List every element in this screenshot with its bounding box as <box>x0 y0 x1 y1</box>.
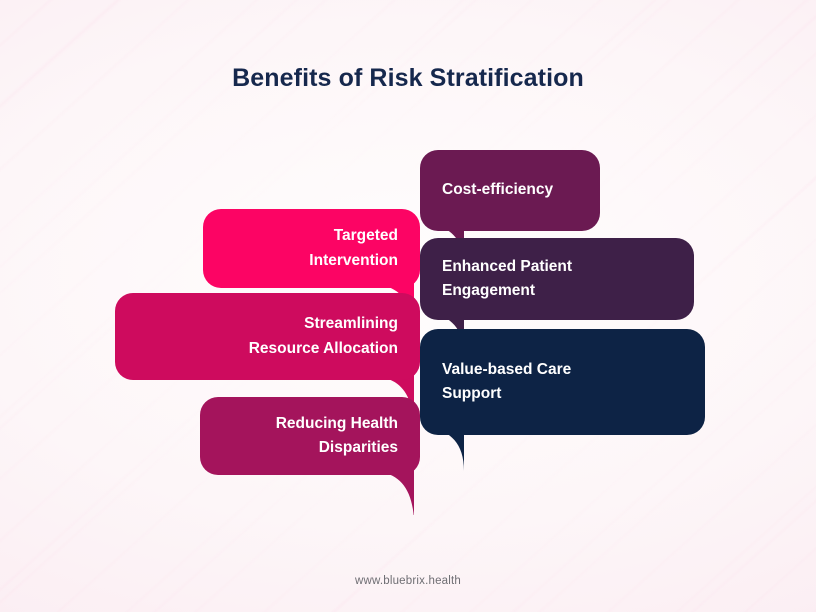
benefit-bubble-enhanced-patient-engagement[interactable]: Enhanced Patient Engagement <box>420 238 694 320</box>
benefit-bubble-cost-efficiency[interactable]: Cost-efficiency <box>420 150 600 231</box>
bubble-tail-icon <box>380 469 414 515</box>
bubble-label: Cost-efficiency <box>420 178 600 202</box>
bubble-label: Value-based Care Support <box>420 358 705 406</box>
bubble-label: Reducing Health Disparities <box>200 412 420 460</box>
benefit-bubble-targeted-intervention[interactable]: Targeted Intervention <box>203 209 420 288</box>
footer-website: www.bluebrix.health <box>0 575 816 587</box>
benefit-bubble-group: Cost-efficiencyTargeted InterventionEnha… <box>0 0 816 612</box>
benefit-bubble-reducing-health-disparities[interactable]: Reducing Health Disparities <box>200 397 420 475</box>
bubble-label: Enhanced Patient Engagement <box>420 255 694 303</box>
infographic-canvas: Benefits of Risk Stratification Cost-eff… <box>0 0 816 612</box>
bubble-label: Targeted Intervention <box>203 224 420 272</box>
benefit-bubble-streamlining-resource-allocation[interactable]: Streamlining Resource Allocation <box>115 293 420 380</box>
bubble-label: Streamlining Resource Allocation <box>115 312 420 360</box>
benefit-bubble-value-based-care-support[interactable]: Value-based Care Support <box>420 329 705 435</box>
